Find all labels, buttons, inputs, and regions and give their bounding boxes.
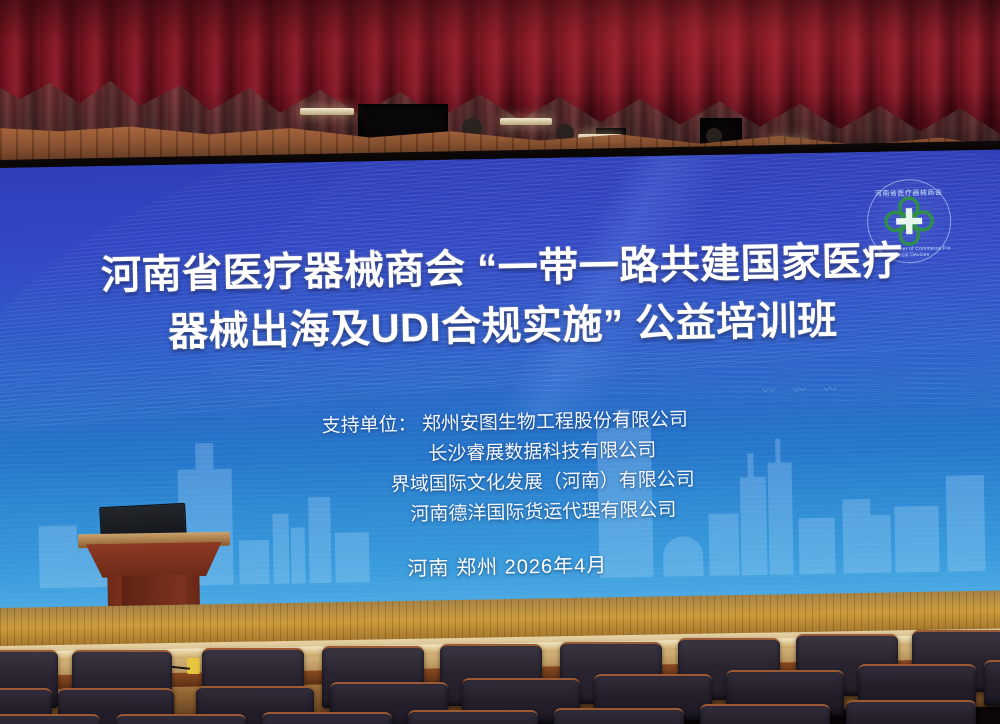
bird-silhouettes: 〰 〰 〰: [762, 378, 844, 398]
podium-body: [86, 542, 223, 578]
auditorium-seat: [0, 714, 100, 724]
auditorium-seat: [262, 712, 392, 724]
auditorium-stage-scene: 〰 〰 〰 河南省医疗器械商会 Henan Chamber of: [0, 0, 1000, 724]
auditorium-seat: [984, 660, 1000, 706]
hanging-fixture-3: [706, 128, 722, 144]
auditorium-seat: [408, 710, 538, 724]
auditorium-seat: [700, 704, 830, 724]
auditorium-seat: [554, 708, 684, 724]
floor-equipment-box: [187, 658, 200, 674]
stage-light-2: [500, 118, 552, 125]
auditorium-seat: [116, 714, 246, 724]
auditorium-seat: [846, 700, 976, 724]
stage-light-1: [300, 108, 354, 115]
